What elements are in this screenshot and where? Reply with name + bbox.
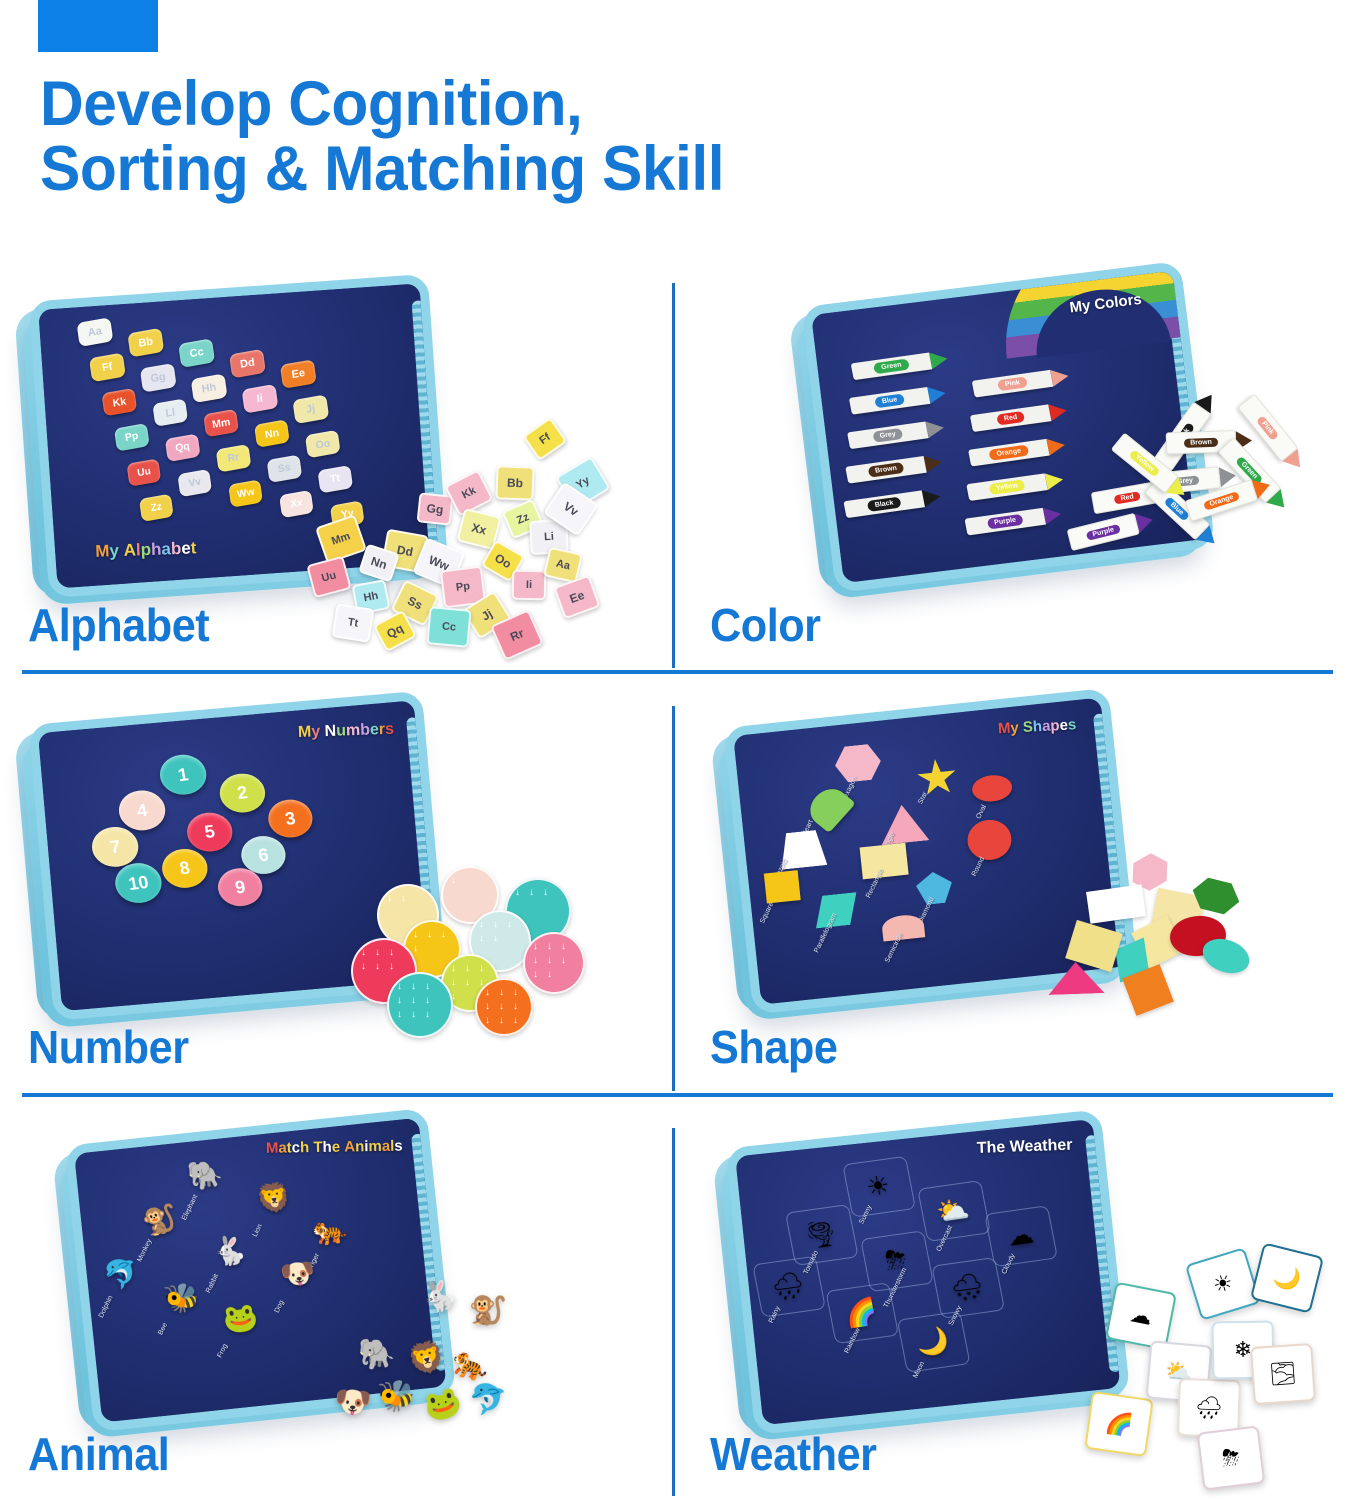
count-mark: ↓: [397, 996, 406, 1005]
crayon-label: Red: [996, 411, 1025, 426]
alphabet-loose-tiles: FfBbYyGgKkDdZzXxMmNnUuWwHhSsPpOoLiVvIiJj…: [300, 420, 590, 650]
crayon-label: Orange: [989, 445, 1029, 461]
weather-book: ☀Sunny⛅Overcast☁Cloudy🌪Tornado⛈Thunderst…: [707, 1109, 1131, 1449]
crayon-body: Red: [970, 404, 1052, 432]
number-loose-disc: ↓↓↓↓↓↓↓↓: [523, 932, 585, 994]
panel-label-weather: Weather: [710, 1427, 877, 1481]
panel-label-animal: Animal: [28, 1427, 169, 1481]
weather-icon-cloudy: ☁: [995, 1215, 1044, 1256]
panel-weather: ☀Sunny⛅Overcast☁Cloudy🌪Tornado⛈Thunderst…: [672, 1125, 1355, 1500]
alphabet-loose-tile: Gg: [417, 492, 454, 525]
count-mark: ↓: [533, 942, 542, 951]
number-disc: 4: [115, 788, 168, 833]
weather-loose-card: 🌫: [1250, 1343, 1316, 1405]
count-mark: ↓: [493, 920, 502, 929]
animal-loose-piece: 🐒: [465, 1290, 507, 1330]
weather-loose-card: ⛈: [1197, 1425, 1266, 1490]
count-mark: ↓: [425, 1010, 434, 1019]
number-loose-disc: ↓↓↓↓↓↓↓↓↓: [475, 978, 533, 1036]
count-mark: ↓: [451, 876, 460, 885]
crayon-orange: Orange: [968, 436, 1066, 466]
crayon-body: Orange: [968, 439, 1050, 467]
alphabet-cover-title: My Alphabet: [95, 538, 197, 562]
count-mark: ↓: [401, 894, 410, 903]
count-mark: ↓: [543, 888, 552, 897]
animal-loose-piece: 🐬: [465, 1379, 509, 1421]
alphabet-loose-tile: Bb: [495, 465, 534, 500]
count-mark: ↓: [427, 930, 436, 939]
animal-label-monkey: Monkey: [136, 1238, 153, 1263]
count-mark: ↓: [499, 1002, 508, 1011]
panel-label-number: Number: [28, 1020, 189, 1074]
alphabet-tile: Ee: [280, 359, 317, 389]
animal-loose-piece: 🐶: [333, 1383, 373, 1421]
weather-cover-title: The Weather: [977, 1137, 1073, 1158]
alphabet-tile: Rr: [216, 444, 252, 473]
weather-icon-tornado: 🌪: [796, 1214, 845, 1255]
alphabet-tile: Gg: [140, 363, 176, 392]
animal-icon-lion: 🦁: [251, 1177, 297, 1217]
shape-square: [764, 870, 801, 903]
panel-animal: 🐘Elephant🦁Lion🐒Monkey🐅Tiger🐬Dolphin🐇Rabb…: [0, 1125, 672, 1500]
count-mark: ↓: [387, 894, 396, 903]
alphabet-tile: Ii: [241, 384, 277, 413]
count-mark: ↓: [499, 1016, 508, 1025]
shape-round: [966, 818, 1014, 862]
count-mark: ↓: [499, 988, 508, 997]
page-title-line1: Develop Cognition,: [40, 69, 582, 139]
alphabet-tile: Kk: [101, 388, 137, 417]
animal-loose-pieces: 🐇🐒🐘🦁🐅🐶🐝🐸🐬: [300, 1275, 550, 1475]
panel-label-alphabet: Alphabet: [28, 598, 209, 652]
alphabet-tile: Pp: [114, 423, 150, 452]
animal-label-rabbit: Rabbit: [205, 1273, 220, 1294]
crayon-yellow: Yellow: [966, 471, 1064, 501]
alphabet-tile: Cc: [178, 338, 215, 368]
alphabet-tile: Dd: [229, 349, 266, 379]
count-mark: ↓: [375, 948, 384, 957]
alphabet-tile: Mm: [203, 409, 239, 438]
alphabet-loose-tile: Tt: [332, 603, 375, 643]
count-mark: ↓: [485, 988, 494, 997]
count-mark: ↓: [389, 948, 398, 957]
count-mark: ↓: [451, 978, 460, 987]
count-mark: ↓: [397, 982, 406, 991]
count-mark: ↓: [389, 962, 398, 971]
count-mark: ↓: [411, 996, 420, 1005]
crayon-label: Purple: [986, 514, 1024, 530]
loose-crayon-label: Red: [1114, 491, 1140, 504]
number-loose-discs: ↓↓↓↓↓↓↓↓↓↓↓↓↓↓↓↓↓↓↓↓↓↓↓↓↓↓↓↓↓↓↓↓↓↓↓↓↓↓↓↓…: [345, 862, 610, 1062]
alphabet-tile: Ll: [152, 398, 188, 427]
shape-label-round: Round: [971, 856, 986, 878]
alphabet-tile: Uu: [126, 458, 161, 486]
count-mark: ↓: [425, 996, 434, 1005]
alphabet-loose-tile: Ii: [512, 570, 547, 601]
alphabet-tile: Bb: [127, 328, 164, 358]
number-disc: 8: [159, 846, 210, 890]
loose-crayon-purple: Purple: [1067, 510, 1155, 550]
count-mark: ↓: [507, 920, 516, 929]
count-mark: ↓: [513, 988, 522, 997]
crayon-tip: [1043, 505, 1063, 524]
crayon-pink: Pink: [972, 368, 1070, 398]
animal-icon-monkey: 🐒: [137, 1199, 183, 1239]
crayon-tip: [1050, 368, 1070, 387]
alphabet-loose-tile: Ee: [553, 575, 600, 620]
count-mark: ↓: [533, 970, 542, 979]
count-mark: ↓: [547, 956, 556, 965]
number-disc: 3: [265, 797, 315, 840]
count-mark: ↓: [479, 920, 488, 929]
weather-icon-snowy: 🌨: [943, 1266, 992, 1307]
count-mark: ↓: [493, 934, 502, 943]
count-mark: ↓: [451, 964, 460, 973]
alphabet-loose-tile: Ff: [522, 417, 567, 461]
animal-loose-piece: 🐸: [420, 1382, 466, 1426]
animal-icon-tiger: 🐅: [307, 1209, 353, 1249]
count-mark: ↓: [361, 948, 370, 957]
count-mark: ↓: [515, 888, 524, 897]
loose-crayon-label: Purple: [1086, 523, 1121, 540]
weather-loose-card: 🌙: [1250, 1242, 1324, 1313]
count-mark: ↓: [411, 1010, 420, 1019]
crayon-label: Yellow: [988, 479, 1026, 495]
panel-shape: HexagonHeartTrapezoidSquareParallelogram…: [672, 702, 1355, 1094]
animal-icon-dolphin: 🐬: [98, 1254, 144, 1294]
infographic-page: Develop Cognition, Sorting & Matching Sk…: [0, 0, 1355, 1500]
crayon-label: Pink: [997, 376, 1028, 391]
weather-icon-rainy: 🌧: [763, 1265, 812, 1306]
count-mark: ↓: [547, 970, 556, 979]
count-mark: ↓: [411, 982, 420, 991]
crayon-purple: Purple: [964, 505, 1062, 535]
animal-icon-elephant: 🐘: [182, 1154, 228, 1194]
animal-loose-piece: 🐇: [415, 1274, 462, 1320]
color-loose-crayons: BlackBrownPinkGreyGreenRedBluePurpleYell…: [1062, 410, 1332, 610]
accent-square: [38, 0, 158, 52]
count-mark: ↓: [361, 962, 370, 971]
weather-icon-overcast: ⛅: [928, 1190, 977, 1231]
animal-cover-title: Match The Animals: [266, 1137, 403, 1156]
shape-label-square: Square: [759, 901, 775, 924]
shape-label-star: Star: [917, 791, 929, 806]
alphabet-loose-tile: Cc: [426, 606, 471, 648]
count-mark: ↓: [413, 944, 422, 953]
animal-icon-frog: 🐸: [217, 1297, 263, 1337]
count-mark: ↓: [413, 930, 422, 939]
weather-book-cover: ☀Sunny⛅Overcast☁Cloudy🌪Tornado⛈Thunderst…: [725, 1109, 1130, 1435]
divider-horizontal-1: [22, 670, 1333, 674]
animal-label-frog: Frog: [217, 1343, 230, 1359]
animal-label-elephant: Elephant: [181, 1194, 199, 1222]
weather-icon-moon: 🌙: [908, 1320, 957, 1361]
loose-crayon-body: Purple: [1067, 513, 1140, 551]
count-mark: ↓: [397, 1010, 406, 1019]
animal-loose-piece: 🐅: [448, 1343, 494, 1387]
weather-loose-cards: ☀🌙☁🌈⛅🌧❄🌫⛈: [1082, 1245, 1347, 1485]
number-disc: 2: [216, 771, 267, 815]
weather-grid: ☀Sunny⛅Overcast☁Cloudy🌪Tornado⛈Thunderst…: [735, 1119, 1121, 1425]
alphabet-tile: Vv: [177, 469, 212, 497]
shape-parallelogram: [813, 892, 860, 928]
page-title: Develop Cognition, Sorting & Matching Sk…: [40, 72, 1058, 202]
count-mark: ↓: [479, 934, 488, 943]
number-disc: 1: [156, 752, 209, 797]
count-mark: ↓: [465, 964, 474, 973]
alphabet-tile: Ss: [266, 455, 302, 484]
panel-color: My Colors GreenBlueGreyBrownBlack PinkRe…: [672, 280, 1355, 670]
alphabet-tile: Ww: [228, 479, 263, 507]
count-mark: ↓: [561, 956, 570, 965]
crayon-body: Yellow: [966, 473, 1048, 501]
number-cover-title: My Numbers: [298, 721, 395, 742]
alphabet-tile: Qq: [165, 434, 201, 463]
shape-label-oval: Oval: [976, 804, 989, 820]
alphabet-tile: Aa: [76, 317, 113, 347]
loose-crayon-label: Orange: [1203, 491, 1241, 511]
animal-loose-piece: 🐘: [357, 1336, 396, 1372]
weather-loose-card: ☀: [1185, 1247, 1261, 1321]
weather-icon-sunny: ☀: [854, 1165, 903, 1206]
crayon-body: Purple: [964, 508, 1046, 536]
crayon-red: Red: [970, 402, 1068, 432]
count-mark: ↓: [465, 978, 474, 987]
loose-crayon-label: Pink: [1256, 415, 1280, 441]
number-disc: 10: [112, 861, 165, 906]
count-mark: ↓: [513, 1016, 522, 1025]
page-title-line2: Sorting & Matching Skill: [40, 137, 1058, 202]
animal-loose-piece: 🦁: [405, 1337, 449, 1380]
panel-number: 12345678910 My Numbers ↓↓↓↓↓↓↓↓↓↓↓↓↓↓↓↓↓…: [0, 702, 672, 1094]
count-mark: ↓: [485, 1016, 494, 1025]
count-mark: ↓: [479, 964, 488, 973]
count-mark: ↓: [533, 956, 542, 965]
alphabet-tile: Ff: [89, 353, 125, 382]
animal-label-bee: Bee: [157, 1322, 169, 1336]
shape-rectangle: [860, 843, 909, 880]
count-mark: ↓: [513, 1002, 522, 1011]
count-mark: ↓: [529, 888, 538, 897]
count-mark: ↓: [485, 1002, 494, 1011]
count-mark: ↓: [561, 942, 570, 951]
panel-alphabet: AaBbCcDdEeFfGgHhIiJjKkLlMmNnOoPpQqRrSsTt…: [0, 280, 672, 670]
count-mark: ↓: [441, 930, 450, 939]
crayon-body: Pink: [972, 370, 1054, 398]
count-mark: ↓: [425, 982, 434, 991]
weather-icon-thunderstorm: ⛈: [871, 1240, 920, 1281]
panel-label-color: Color: [710, 598, 821, 652]
panel-label-shape: Shape: [710, 1020, 837, 1074]
shape-loose-pieces: [1042, 852, 1302, 1042]
weather-loose-card: ☁: [1105, 1282, 1177, 1351]
loose-crayon-label: Brown: [1184, 437, 1218, 447]
alphabet-tile: Nn: [254, 419, 290, 448]
animal-label-dog: Dog: [274, 1299, 286, 1314]
weather-icon-rainbow: 🌈: [837, 1292, 886, 1333]
animal-icon-rabbit: 🐇: [206, 1230, 252, 1270]
shape-oval: [971, 773, 1013, 803]
count-mark: ↓: [375, 962, 384, 971]
animal-label-dolphin: Dolphin: [98, 1295, 115, 1319]
animal-label-lion: Lion: [252, 1223, 264, 1238]
animal-icon-bee: 🐝: [159, 1277, 205, 1317]
number-disc: 5: [184, 810, 235, 854]
alphabet-loose-tile: Uu: [306, 556, 352, 599]
alphabet-tile: Hh: [191, 374, 227, 403]
count-mark: ↓: [547, 942, 556, 951]
weather-loose-card: 🌈: [1084, 1391, 1153, 1457]
animal-loose-piece: 🐝: [376, 1377, 417, 1416]
shape-loose-piece: [1086, 884, 1146, 923]
alphabet-tile: Zz: [139, 494, 174, 522]
number-loose-disc: ↓↓↓↓↓↓↓↓↓: [387, 972, 453, 1038]
